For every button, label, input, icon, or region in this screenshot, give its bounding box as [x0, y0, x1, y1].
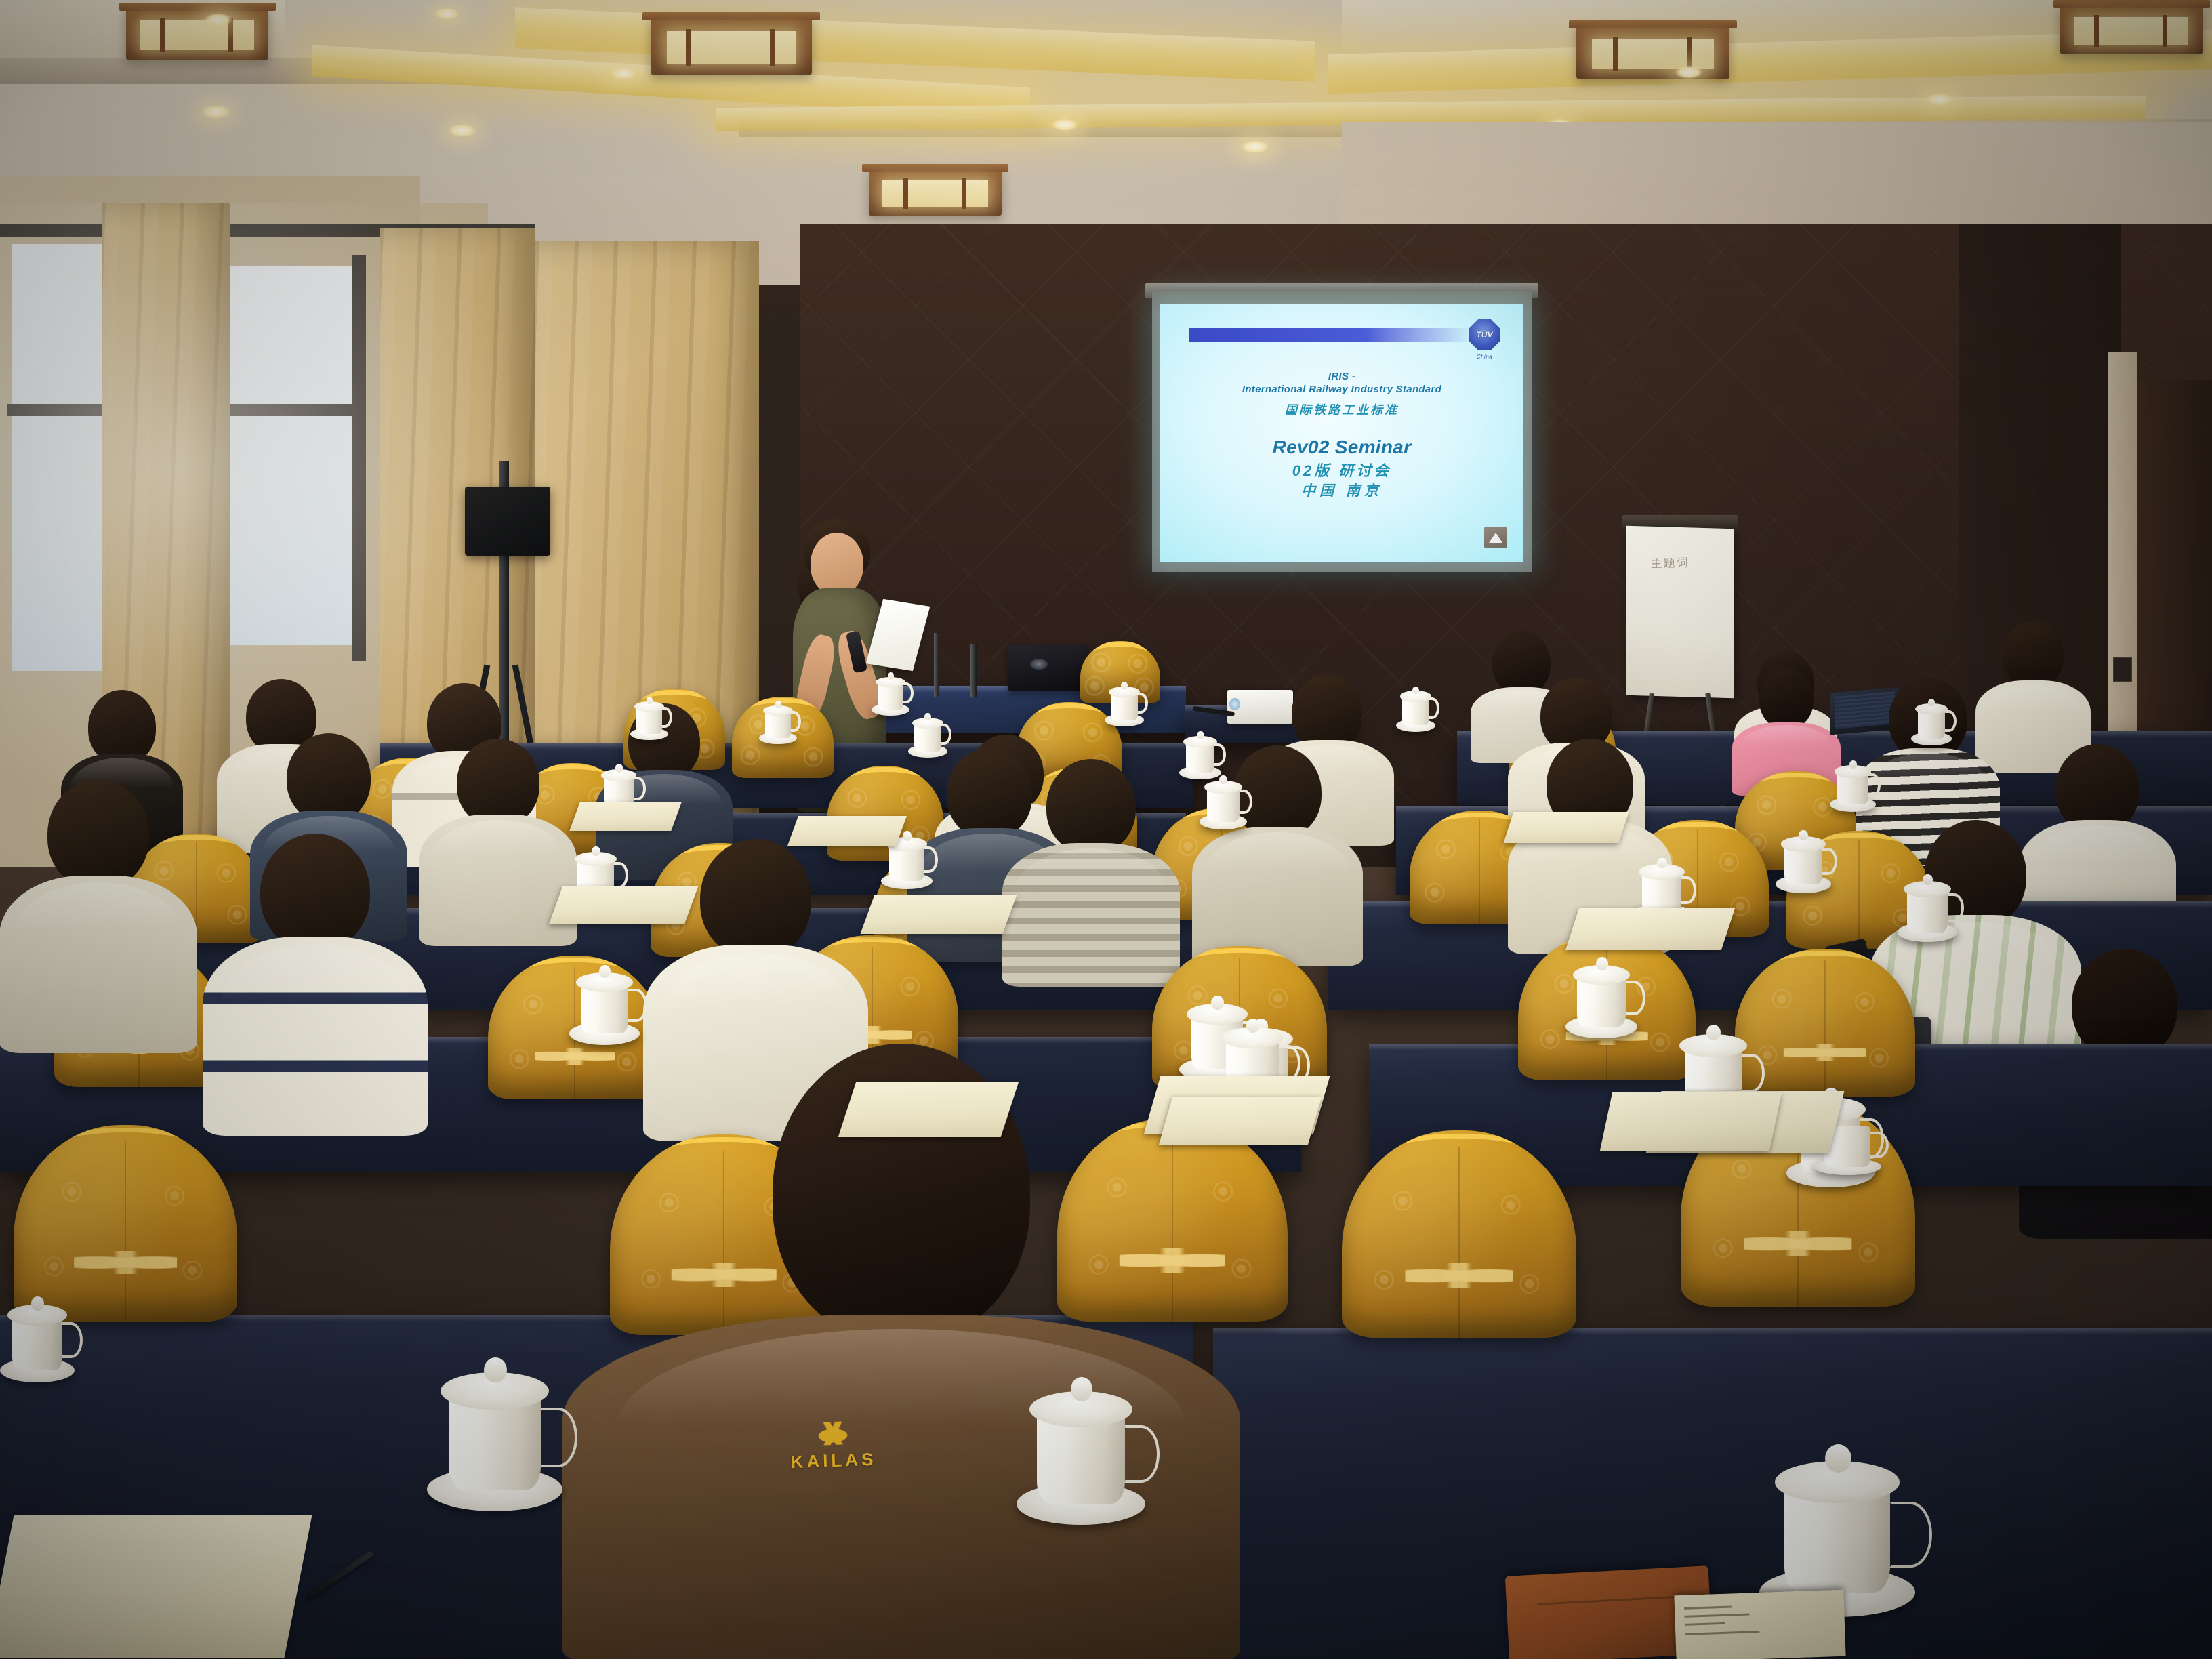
chair-back [1342, 1130, 1576, 1338]
cup-lid-knob [1825, 1444, 1851, 1473]
cup-lid-knob [1197, 731, 1204, 739]
lantern-mullion [770, 29, 775, 66]
slide-text-block: IRIS - International Railway Industry St… [1160, 371, 1523, 499]
notepad[interactable] [787, 816, 907, 846]
pa-speaker [465, 487, 550, 556]
cup-handle [60, 1322, 83, 1358]
cup-lid-knob [1657, 858, 1666, 869]
lantern-mullion [903, 178, 908, 209]
shoulder-highlight [1985, 684, 2082, 710]
teacup-with-saucer[interactable] [1565, 949, 1637, 1038]
recessed-downlight [1674, 66, 1704, 79]
teacup-with-saucer[interactable] [1776, 824, 1831, 893]
cup-handle [1622, 981, 1645, 1015]
ceiling-lantern-fixture [126, 7, 268, 60]
notepad[interactable] [1600, 1092, 1782, 1151]
flipchart-paper [1626, 526, 1734, 698]
recessed-downlight [434, 8, 461, 20]
chair-frog-knot [1784, 1044, 1866, 1061]
attendee-head [457, 739, 539, 827]
cup-lid-knob [31, 1296, 44, 1311]
cup-lid-knob [647, 697, 653, 704]
shoulder-highlight [1017, 848, 1166, 888]
document-text-line [1685, 1631, 1759, 1635]
recessed-downlight [1240, 141, 1270, 154]
chair-seam [125, 1141, 126, 1322]
lantern-mullion [686, 29, 691, 66]
projector-lens [1229, 698, 1240, 710]
lantern-mullion [2163, 15, 2167, 47]
lantern-glow-panel [882, 180, 989, 207]
teacup-with-saucer[interactable] [1396, 682, 1435, 732]
cup-handle [539, 1408, 577, 1467]
shoulder-highlight [661, 953, 851, 1008]
attendee-head [700, 839, 811, 958]
teacup-with-saucer[interactable] [1017, 1362, 1145, 1525]
chair-seam [1479, 819, 1480, 924]
slide-line-1: IRIS - [1160, 371, 1523, 383]
notepad[interactable] [860, 895, 1017, 934]
shoulder-highlight [1741, 725, 1832, 745]
notepad[interactable] [0, 1515, 312, 1658]
attendee-torso [203, 937, 428, 1136]
microphone-stand [970, 644, 977, 697]
teacup-with-saucer[interactable] [872, 668, 909, 716]
lantern-mullion [160, 18, 165, 52]
shoulder-highlight [1868, 753, 1988, 786]
tuv-logo-caption: China [1466, 354, 1504, 360]
cup-lid-knob [592, 846, 600, 856]
slide-header-bar [1189, 328, 1473, 342]
presenter-head [811, 533, 863, 595]
cup-lid-knob [903, 831, 912, 840]
teacup-with-saucer[interactable] [1759, 1427, 1915, 1617]
lantern-eave [1569, 20, 1738, 28]
lantern-glow-panel [1592, 39, 1715, 69]
teacup-with-saucer[interactable] [759, 697, 797, 744]
cup-lid-knob [1706, 1025, 1721, 1040]
microphone-stand [934, 633, 939, 697]
teacup-with-saucer[interactable] [427, 1342, 562, 1511]
teacup-with-saucer[interactable] [1830, 755, 1876, 812]
lantern-glow-panel [2074, 17, 2188, 45]
shoulder-highlight [1206, 832, 1349, 872]
attendee-torso [419, 815, 577, 946]
document-text-line [1684, 1614, 1749, 1618]
cup-lid-knob [1596, 957, 1608, 970]
recessed-downlight [203, 14, 233, 27]
document-text-line [1685, 1622, 1725, 1626]
recessed-downlight [201, 106, 232, 119]
notepad[interactable] [549, 886, 698, 924]
shoulder-highlight [432, 820, 565, 857]
ceiling-lantern-fixture [869, 168, 1002, 216]
attendee-head [2003, 621, 2064, 689]
notepad[interactable] [1565, 908, 1735, 950]
recessed-downlight [447, 125, 477, 138]
teacup-with-saucer[interactable] [1105, 678, 1144, 726]
attendee-torso [0, 876, 197, 1053]
attendee [0, 779, 197, 1050]
lantern-mullion [962, 178, 966, 209]
kailas-brand-mark-icon [803, 1421, 862, 1446]
light-switch[interactable] [2113, 657, 2132, 682]
cup-lid-knob [888, 672, 895, 680]
attendee-head [260, 834, 370, 950]
lantern-glow-panel [140, 20, 254, 50]
window-mullion [352, 255, 366, 661]
chair-frog-knot [1405, 1263, 1513, 1288]
cup-lid-knob [1412, 687, 1419, 694]
triangle-glyph [1489, 533, 1502, 543]
slide-line-3-chinese: 国际铁路工业标准 [1160, 403, 1523, 418]
lantern-mullion [1613, 37, 1618, 71]
cup-lid-knob [775, 701, 782, 708]
chair[interactable] [1342, 1130, 1576, 1338]
laptop-screen-glare [1030, 659, 1048, 670]
cup-lid-knob [1211, 996, 1224, 1010]
shoulder-highlight [221, 945, 410, 1000]
teacup-with-saucer[interactable] [569, 957, 640, 1045]
cup-handle [1889, 1502, 1932, 1568]
chair-seam [1458, 1147, 1460, 1338]
chair-frog-knot [74, 1251, 177, 1275]
attendee-head [1046, 759, 1136, 854]
slide-line-4-title: Rev02 Seminar [1160, 436, 1523, 459]
slide-line-2: International Railway Industry Standard [1160, 384, 1523, 396]
teacup-with-saucer[interactable] [630, 693, 668, 740]
notepad[interactable] [1159, 1097, 1322, 1145]
cup-lid-knob [1071, 1377, 1092, 1401]
tuv-mark-text: TÜV [1477, 331, 1493, 339]
chair-seam [1858, 840, 1860, 949]
recessed-downlight [1925, 94, 1954, 106]
mountain-triangle-icon [1484, 527, 1507, 548]
teacup-with-saucer[interactable] [1200, 770, 1247, 829]
conference-room-photo: TÜV China IRIS - International Railway I… [0, 0, 2212, 1659]
tuv-octagon-mark: TÜV [1469, 319, 1500, 350]
presentation-slide: TÜV China IRIS - International Railway I… [1160, 304, 1523, 562]
attendee-head [47, 779, 149, 889]
printed-document[interactable] [1674, 1590, 1845, 1659]
notepad[interactable] [1504, 812, 1629, 843]
notepad[interactable] [569, 802, 681, 831]
cup-handle [1123, 1425, 1160, 1483]
chair-frog-knot [1744, 1231, 1851, 1256]
recessed-downlight [1050, 119, 1079, 131]
attendee-head [287, 733, 371, 823]
attendee-head [1759, 668, 1814, 729]
attendee-navy-stripe-polo [203, 834, 427, 1132]
teacup-with-saucer[interactable] [1898, 867, 1957, 942]
notepad[interactable] [838, 1082, 1019, 1137]
flipchart-writing: 主题词 [1650, 555, 1719, 591]
ceiling-lantern-fixture [2060, 4, 2203, 54]
cup-lid-knob [615, 764, 623, 772]
teacup-with-saucer[interactable] [0, 1288, 75, 1382]
lantern-mullion [2094, 15, 2099, 47]
presenter-laptop[interactable] [1008, 645, 1088, 691]
recessed-downlight [610, 68, 637, 80]
tuv-sud-logo: TÜV China [1466, 319, 1504, 360]
lantern-eave [862, 164, 1008, 172]
cup-handle [1739, 1054, 1765, 1092]
ceiling-lantern-fixture [1576, 24, 1729, 79]
slide-line-6-chinese: 中国 南京 [1160, 483, 1523, 500]
slide-line-5-chinese: 02版 研讨会 [1160, 462, 1523, 480]
teacup-with-saucer[interactable] [1911, 694, 1952, 745]
lantern-eave [2053, 0, 2210, 8]
shoulder-highlight [15, 882, 181, 932]
cup-lid-knob [484, 1357, 507, 1383]
teacup-with-saucer[interactable] [908, 709, 947, 758]
document-text-line [1684, 1605, 1732, 1609]
ceiling-lantern-fixture [651, 16, 812, 75]
chair-seam [1824, 960, 1826, 1097]
lantern-eave [119, 3, 276, 11]
lantern-eave [642, 12, 820, 20]
